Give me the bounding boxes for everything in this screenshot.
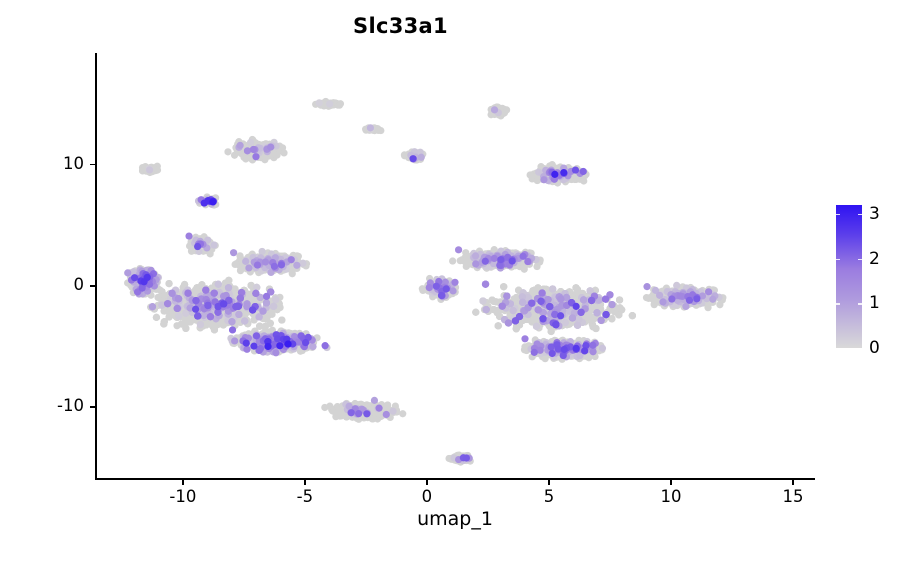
x-tick-mark <box>426 480 428 485</box>
y-tick-mark <box>90 164 95 166</box>
plot-axes: -10-5051015 100-10 <box>95 53 815 480</box>
x-axis-spine <box>95 478 815 480</box>
y-tick-label-text: -10 <box>57 396 84 415</box>
y-tick-mark <box>90 406 95 408</box>
page-title: Slc33a1 <box>0 14 856 38</box>
colorbar-tick-mark <box>858 214 862 215</box>
x-tick-mark <box>792 480 794 485</box>
x-tick-label: 5 <box>544 487 555 506</box>
umap-feature-plot: Slc33a1 umap_2 umap_1 -10-5051015 100-10… <box>0 0 911 562</box>
colorbar-tick-mark <box>836 259 840 260</box>
colorbar-tick-mark <box>836 214 840 215</box>
colorbar: 0123 <box>836 205 862 348</box>
x-tick-mark <box>182 480 184 485</box>
x-tick-label: -5 <box>297 487 313 506</box>
x-tick-label: 15 <box>783 487 804 506</box>
x-tick-mark <box>304 480 306 485</box>
x-tick-mark <box>548 480 550 485</box>
colorbar-tick-mark <box>858 259 862 260</box>
x-tick-label: 10 <box>661 487 682 506</box>
y-tick-label-text: 0 <box>74 275 85 294</box>
colorbar-tick-label: 0 <box>869 338 880 358</box>
y-tick-mark <box>90 285 95 287</box>
x-tick-label: 0 <box>422 487 433 506</box>
x-axis-label: umap_1 <box>95 508 815 530</box>
x-tick-mark <box>670 480 672 485</box>
colorbar-tick-mark <box>836 303 840 304</box>
y-tick-label-text: 10 <box>63 154 84 173</box>
colorbar-tick-label: 2 <box>869 249 880 269</box>
colorbar-gradient <box>836 205 862 348</box>
x-tick-label: -10 <box>169 487 196 506</box>
colorbar-tick-label: 3 <box>869 204 880 224</box>
y-axis-spine <box>95 53 97 480</box>
colorbar-tick-label: 1 <box>869 293 880 313</box>
scatter-points-layer <box>95 53 815 480</box>
colorbar-tick-mark <box>858 303 862 304</box>
